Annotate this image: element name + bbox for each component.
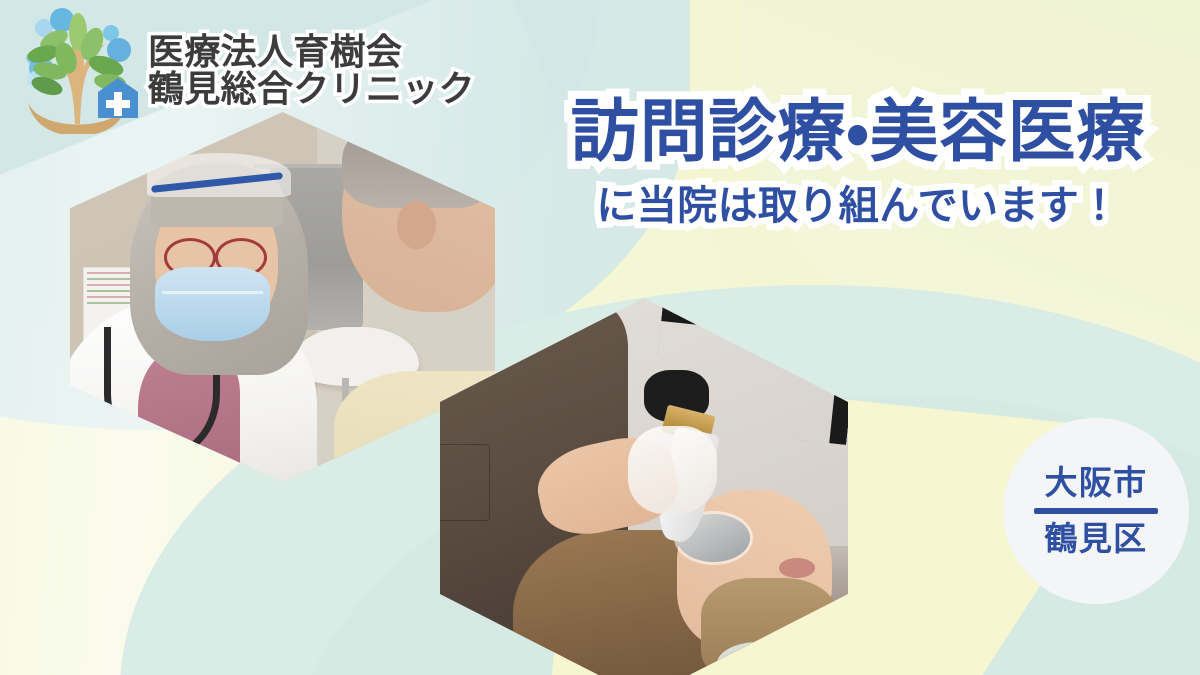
headline-primary: 訪問診療・美容医療 (528, 96, 1188, 169)
headline-block: 訪問診療・美容医療 に当院は取り組んでいます！ (528, 96, 1188, 229)
brand-text: 医療法人育樹会 鶴見総合クリニック (148, 33, 475, 108)
location-ward: 鶴見区 (1045, 520, 1148, 559)
banner-canvas: 医療法人育樹会 鶴見総合クリニック (0, 0, 1200, 675)
location-divider (1034, 508, 1158, 514)
brand-organization: 医療法人育樹会 (148, 33, 475, 70)
brand-clinic-name: 鶴見総合クリニック (148, 70, 475, 107)
location-city: 大阪市 (1045, 464, 1148, 503)
tree-with-clinic-house-logo-icon (14, 6, 142, 134)
location-badge: 大阪市 鶴見区 (1003, 418, 1189, 604)
brand-logo-lockup[interactable]: 医療法人育樹会 鶴見総合クリニック (14, 6, 475, 134)
headline-secondary: に当院は取り組んでいます！ (528, 183, 1188, 229)
